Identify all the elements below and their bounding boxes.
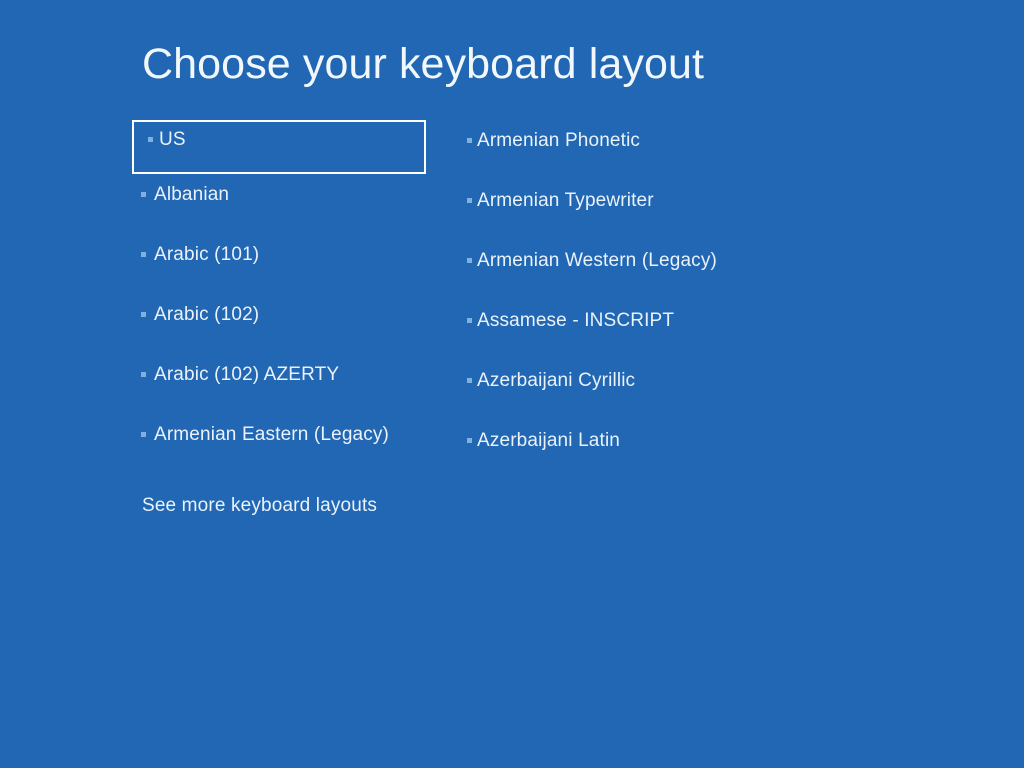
layout-option-armenian-eastern-legacy[interactable]: Armenian Eastern (Legacy) bbox=[132, 414, 432, 474]
list-bullet-icon bbox=[467, 318, 472, 323]
layout-option-arabic-102[interactable]: Arabic (102) bbox=[132, 294, 432, 354]
layout-option-albanian[interactable]: Albanian bbox=[132, 174, 432, 234]
page-title: Choose your keyboard layout bbox=[142, 38, 704, 90]
see-more-keyboard-layouts-link[interactable]: See more keyboard layouts bbox=[142, 493, 377, 519]
layout-option-us[interactable]: US bbox=[132, 120, 426, 174]
layout-option-armenian-typewriter[interactable]: Armenian Typewriter bbox=[467, 180, 787, 240]
keyboard-layout-column-2: Armenian Phonetic Armenian Typewriter Ar… bbox=[467, 120, 787, 480]
layout-option-azerbaijani-cyrillic[interactable]: Azerbaijani Cyrillic bbox=[467, 360, 787, 420]
list-bullet-icon bbox=[148, 137, 153, 142]
layout-option-label: Arabic (101) bbox=[154, 242, 259, 268]
layout-option-label: US bbox=[159, 127, 186, 153]
list-bullet-icon bbox=[141, 372, 146, 377]
layout-option-armenian-phonetic[interactable]: Armenian Phonetic bbox=[467, 120, 787, 180]
layout-option-label: Armenian Western (Legacy) bbox=[477, 248, 717, 274]
layout-option-arabic-101[interactable]: Arabic (101) bbox=[132, 234, 432, 294]
list-bullet-icon bbox=[141, 252, 146, 257]
list-bullet-icon bbox=[141, 432, 146, 437]
layout-option-arabic-102-azerty[interactable]: Arabic (102) AZERTY bbox=[132, 354, 432, 414]
list-bullet-icon bbox=[467, 438, 472, 443]
keyboard-layout-column-1: US Albanian Arabic (101) Arabic (102) Ar… bbox=[132, 120, 432, 474]
layout-option-label: Armenian Phonetic bbox=[477, 128, 640, 154]
recovery-keyboard-layout-screen: Choose your keyboard layout US Albanian … bbox=[0, 0, 1024, 768]
layout-option-label: Assamese - INSCRIPT bbox=[477, 308, 674, 334]
list-bullet-icon bbox=[467, 258, 472, 263]
layout-option-label: Azerbaijani Latin bbox=[477, 428, 620, 454]
layout-option-label: Arabic (102) AZERTY bbox=[154, 362, 339, 388]
layout-option-armenian-western-legacy[interactable]: Armenian Western (Legacy) bbox=[467, 240, 787, 300]
layout-option-label: Armenian Eastern (Legacy) bbox=[154, 422, 389, 448]
list-bullet-icon bbox=[467, 138, 472, 143]
list-bullet-icon bbox=[467, 198, 472, 203]
layout-option-label: Azerbaijani Cyrillic bbox=[477, 368, 635, 394]
list-bullet-icon bbox=[141, 192, 146, 197]
layout-option-label: Armenian Typewriter bbox=[477, 188, 654, 214]
layout-option-azerbaijani-latin[interactable]: Azerbaijani Latin bbox=[467, 420, 787, 480]
list-bullet-icon bbox=[141, 312, 146, 317]
layout-option-label: Arabic (102) bbox=[154, 302, 259, 328]
layout-option-label: Albanian bbox=[154, 182, 229, 208]
layout-option-assamese-inscript[interactable]: Assamese - INSCRIPT bbox=[467, 300, 787, 360]
list-bullet-icon bbox=[467, 378, 472, 383]
